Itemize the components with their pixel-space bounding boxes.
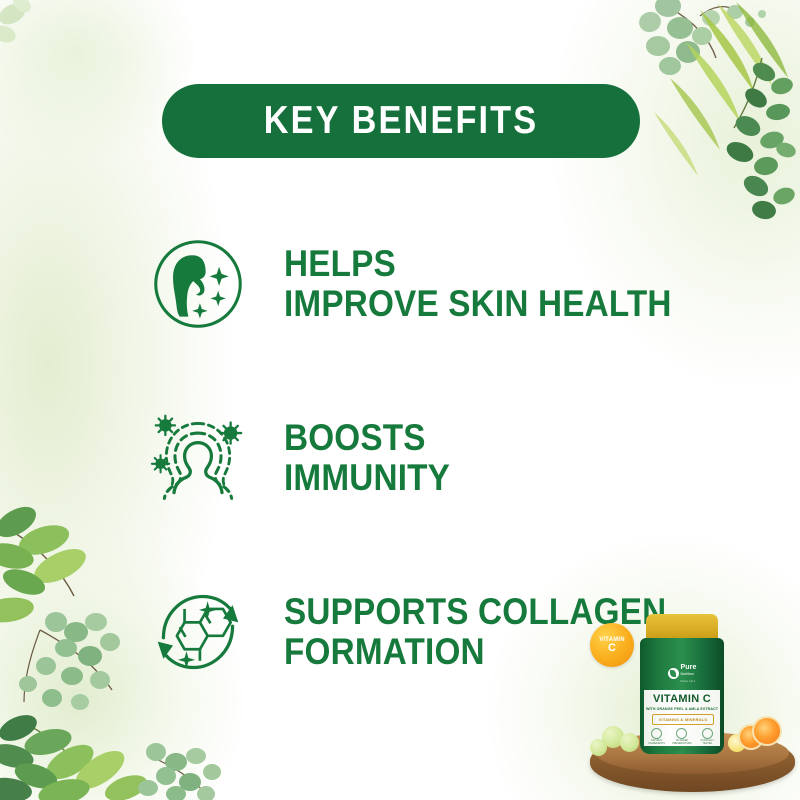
benefit-line2: IMMUNITY	[284, 458, 450, 498]
product-description: WITH ORANGE PEEL & AMLA EXTRACT	[640, 707, 724, 711]
product-tagline-badge: VITAMINS & MINERALS	[652, 714, 714, 725]
skin-health-icon	[150, 236, 246, 332]
certification-icon	[676, 728, 687, 739]
brand-name: Pure	[681, 664, 697, 671]
product-dose: 1000 mg	[640, 746, 724, 751]
bottle-body: Pure Nutrition Naturals VITAMIN C WITH O…	[640, 638, 724, 754]
brand-logo: Pure Nutrition Naturals	[640, 664, 724, 684]
product-shot: Pure Nutrition Naturals VITAMIN C WITH O…	[580, 585, 800, 800]
brand-subline: Nutrition	[681, 672, 694, 676]
certification-badge: NATURAL INGREDIENTS	[647, 728, 667, 745]
foliage-top-left	[0, 0, 120, 120]
benefit-text-immunity: BOOSTS IMMUNITY	[284, 418, 450, 498]
amla-fruit	[620, 733, 639, 752]
benefit-item-immunity: BOOSTS IMMUNITY	[0, 402, 800, 514]
certification-icon	[651, 728, 662, 739]
leaf-icon	[668, 668, 679, 679]
certification-icon	[702, 728, 713, 739]
collagen-icon	[150, 584, 246, 680]
infographic-canvas: KEY BENEFITS HELPS IMPROVE SKIN HEALTH	[0, 0, 800, 800]
benefit-line2: IMPROVE SKIN HEALTH	[284, 284, 672, 324]
badge-line2: C	[608, 643, 616, 654]
benefit-item-skin-health: HELPS IMPROVE SKIN HEALTH	[0, 228, 800, 340]
immunity-icon	[150, 410, 246, 506]
product-bottle: Pure Nutrition Naturals VITAMIN C WITH O…	[640, 614, 724, 754]
certification-badge: NO ADDED PRESERVATIVES	[672, 728, 692, 745]
vitamin-c-badge: VITAMIN C	[590, 623, 634, 667]
header-pill: KEY BENEFITS	[162, 84, 640, 158]
certification-badges: NATURAL INGREDIENTS NO ADDED PRESERVATIV…	[644, 728, 720, 745]
product-name: VITAMIN C	[640, 693, 724, 705]
orange-slice	[752, 716, 782, 746]
brand-tagline: Naturals	[681, 679, 696, 683]
page-title: KEY BENEFITS	[264, 99, 539, 143]
benefit-line1: BOOSTS	[284, 417, 426, 458]
certification-badge: CLINICALLY TESTED	[697, 728, 717, 745]
bottle-cap	[646, 614, 718, 641]
benefit-line1: HELPS	[284, 243, 396, 284]
benefit-text-skin-health: HELPS IMPROVE SKIN HEALTH	[284, 244, 672, 324]
